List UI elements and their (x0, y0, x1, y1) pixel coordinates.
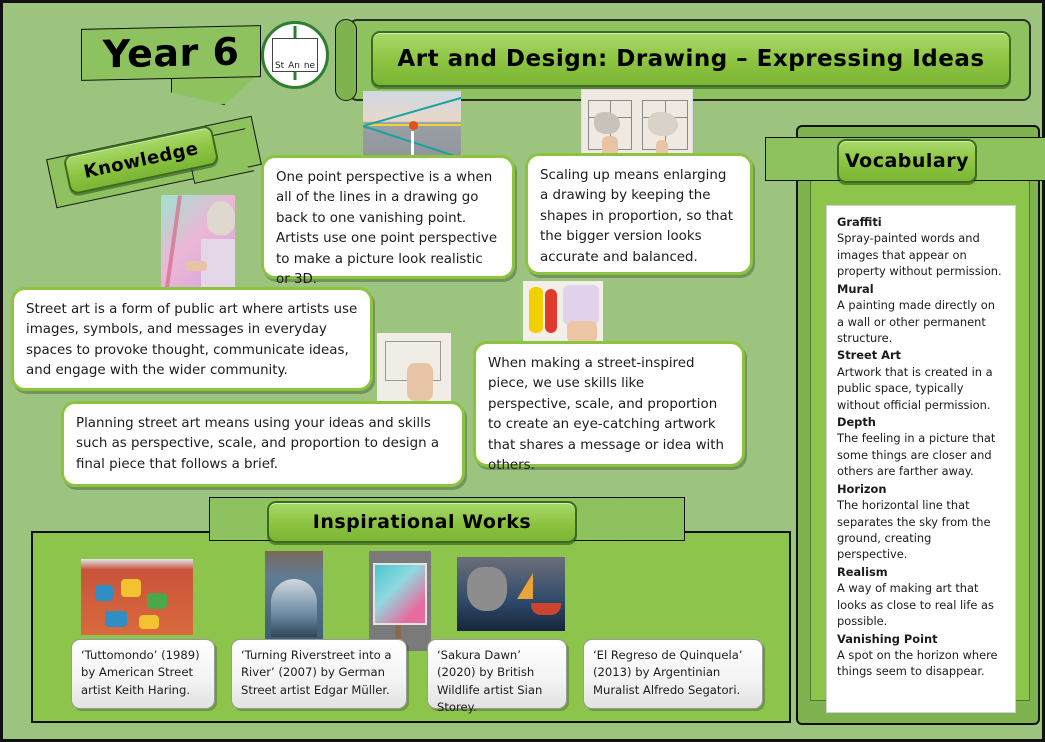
vocabulary-term: Mural (837, 281, 1005, 297)
el-regreso-de-quinquela-mural-photo (457, 557, 565, 631)
vocabulary-panel: Graffiti Spray-painted words and images … (796, 125, 1040, 725)
year-banner: Year 6 (81, 25, 261, 81)
work-caption-text: ‘Tuttomondo’ (1989) by American Street a… (81, 648, 200, 697)
knowledge-box-street-art: Street art is a form of public art where… (11, 287, 373, 391)
knowledge-box-scaling-up: Scaling up means enlarging a drawing by … (525, 153, 753, 275)
vocabulary-definition: A spot on the horizon where things seem … (837, 647, 1005, 680)
vocabulary-term: Vanishing Point (837, 631, 1005, 647)
knowledge-box-text: Planning street art means using your ide… (76, 416, 439, 472)
knowledge-box-text: One point perspective is a when all of t… (276, 170, 497, 287)
vocabulary-definition: Artwork that is created in a public spac… (837, 364, 1005, 413)
school-logo: St An ne (261, 21, 329, 89)
vocabulary-entry: Vanishing Point A spot on the horizon wh… (837, 631, 1005, 680)
vocabulary-list: Graffiti Spray-painted words and images … (826, 205, 1016, 713)
work-caption-text: ‘Sakura Dawn’ (2020) by British Wildlife… (437, 648, 542, 714)
vocabulary-label-text: Vocabulary (845, 150, 969, 172)
vocabulary-term: Graffiti (837, 214, 1005, 230)
tuttomondo-mural-photo (81, 559, 193, 635)
vocabulary-term: Realism (837, 564, 1005, 580)
vocabulary-entry: Graffiti Spray-painted words and images … (837, 214, 1005, 280)
knowledge-box-planning-street-art: Planning street art means using your ide… (61, 401, 465, 487)
works-label-text: Inspirational Works (313, 511, 531, 533)
year-banner-tail (171, 75, 257, 105)
work-caption-2: ‘Turning Riverstreet into a River’ (2007… (231, 639, 407, 709)
vocabulary-definition: The feeling in a picture that some thing… (837, 430, 1005, 479)
vocabulary-definition: The horizontal line that separates the s… (837, 497, 1005, 563)
work-caption-1: ‘Tuttomondo’ (1989) by American Street a… (71, 639, 215, 709)
inspirational-works-panel: ‘Tuttomondo’ (1989) by American Street a… (31, 531, 791, 723)
knowledge-box-one-point-perspective: One point perspective is a when all of t… (261, 155, 515, 279)
riverstreet-3d-street-art-photo (265, 551, 323, 647)
knowledge-box-text: Scaling up means enlarging a drawing by … (540, 168, 733, 265)
work-caption-4: ‘El Regreso de Quinquela’ (2013) by Arge… (583, 639, 763, 709)
vocabulary-definition: Spray-painted words and images that appe… (837, 230, 1005, 279)
vocabulary-term: Street Art (837, 347, 1005, 363)
logo-text-st: St (275, 62, 284, 71)
vocabulary-term: Horizon (837, 481, 1005, 497)
logo-text-anne2: ne (304, 62, 315, 71)
work-caption-text: ‘Turning Riverstreet into a River’ (2007… (241, 648, 392, 697)
logo-book-icon: St An ne (272, 38, 318, 72)
page-title: Art and Design: Drawing – Expressing Ide… (371, 31, 1011, 87)
vocabulary-entry: Mural A painting made directly on a wall… (837, 281, 1005, 347)
logo-text-anne: An (288, 62, 300, 71)
title-ribbon-left-curl (335, 19, 357, 101)
colourful-street-art-hand-photo (523, 281, 603, 343)
hand-drawing-sketch-photo (377, 333, 451, 401)
vocabulary-entry: Street Art Artwork that is created in a … (837, 347, 1005, 413)
artist-painting-mural-photo (161, 195, 235, 295)
vocabulary-definition: A way of making art that looks as close … (837, 580, 1005, 629)
vocabulary-entry: Realism A way of making art that looks a… (837, 564, 1005, 630)
work-caption-3: ‘Sakura Dawn’ (2020) by British Wildlife… (427, 639, 567, 709)
knowledge-box-street-inspired-piece: When making a street-inspired piece, we … (473, 341, 745, 467)
scaling-up-bird-grid-photo (581, 89, 693, 163)
page-title-text: Art and Design: Drawing – Expressing Ide… (397, 46, 984, 72)
vocabulary-banner-label: Vocabulary (837, 139, 977, 183)
one-point-perspective-road-photo (363, 91, 461, 163)
knowledge-organiser-page: Year 6 St An ne Art and Design: Drawing … (0, 0, 1045, 742)
inspirational-works-banner-label: Inspirational Works (267, 501, 577, 543)
sakura-dawn-painting-photo (369, 551, 431, 651)
knowledge-box-text: Street art is a form of public art where… (26, 302, 357, 378)
vocabulary-definition: A painting made directly on a wall or ot… (837, 297, 1005, 346)
knowledge-box-text: When making a street-inspired piece, we … (488, 356, 724, 473)
vocabulary-entry: Depth The feeling in a picture that some… (837, 414, 1005, 480)
vocabulary-term: Depth (837, 414, 1005, 430)
work-caption-text: ‘El Regreso de Quinquela’ (2013) by Arge… (593, 648, 742, 697)
vocabulary-entry: Horizon The horizontal line that separat… (837, 481, 1005, 563)
year-label: Year 6 (103, 30, 240, 77)
